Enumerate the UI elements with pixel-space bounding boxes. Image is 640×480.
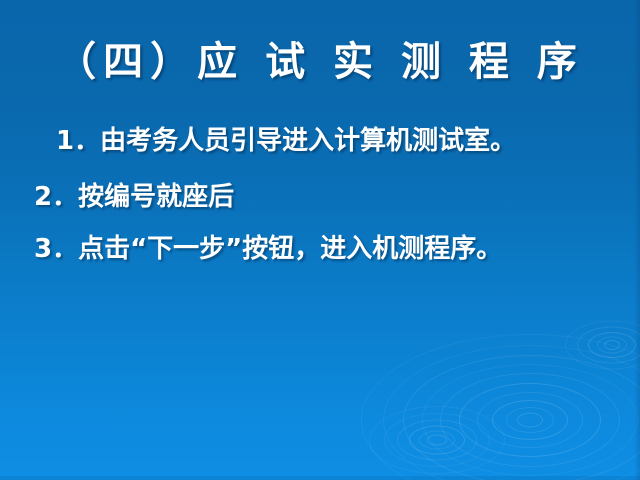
presentation-slide: （四）应 试 实 测 程 序 1．由考务人员引导进入计算机测试室。 2．按编号就… xyxy=(0,0,640,480)
list-item: 2．按编号就座后 xyxy=(34,182,640,212)
bottom-edge-shadow xyxy=(0,476,640,480)
slide-title: （四）应 试 实 测 程 序 xyxy=(0,38,640,86)
right-edge-shadow xyxy=(634,0,640,480)
slide-body-list: 1．由考务人员引导进入计算机测试室。 2．按编号就座后 3．点击“下一步”按钮，… xyxy=(0,126,640,264)
list-item: 1．由考务人员引导进入计算机测试室。 xyxy=(56,126,640,156)
list-item: 3．点击“下一步”按钮，进入机测程序。 xyxy=(34,234,640,264)
